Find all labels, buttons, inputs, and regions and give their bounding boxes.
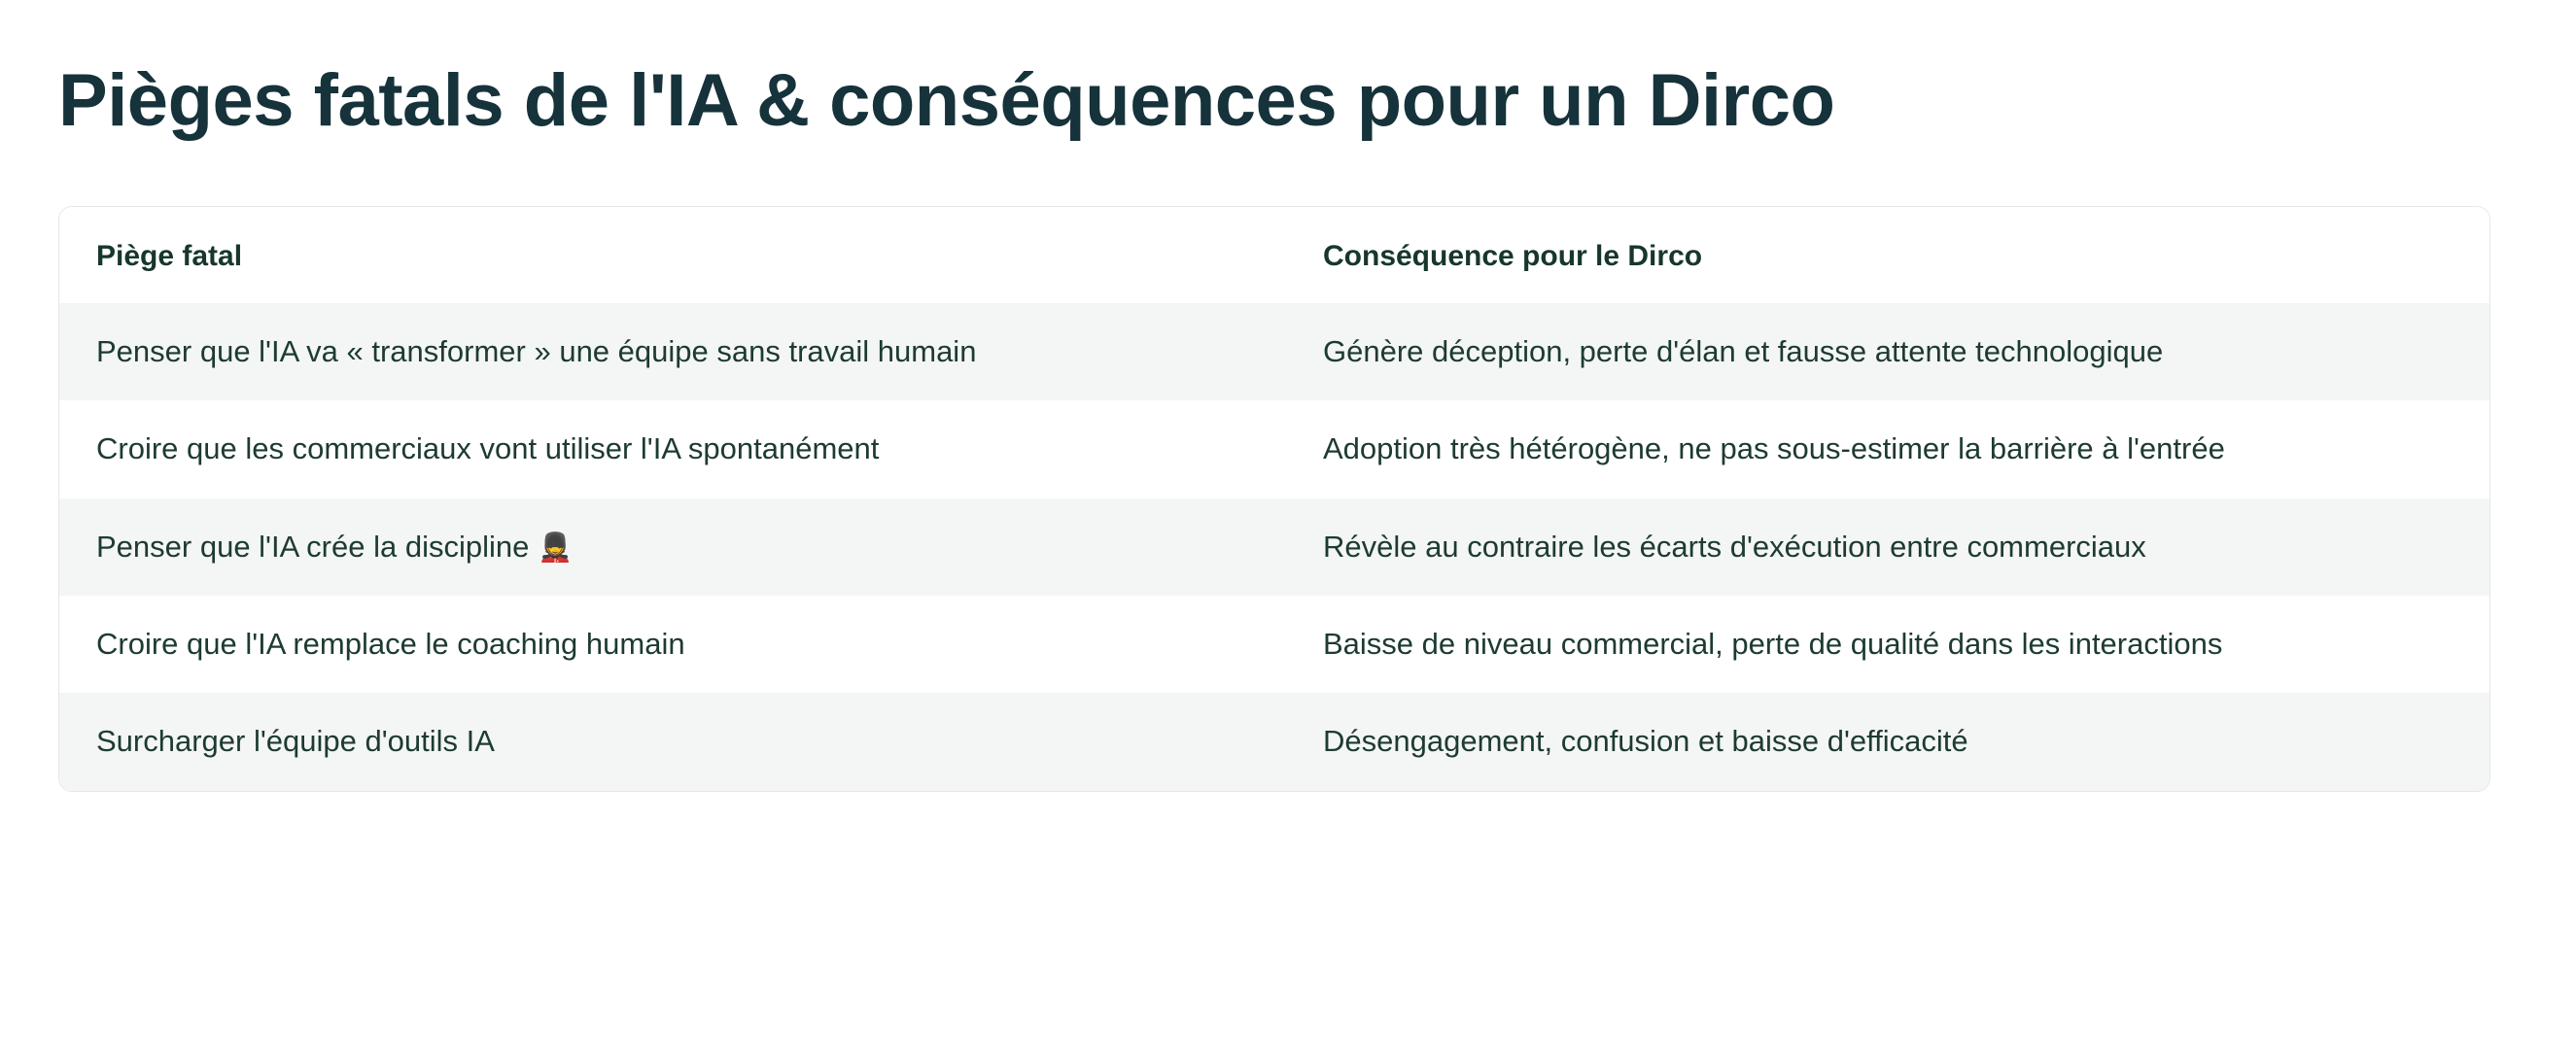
page-root: Pièges fatals de l'IA & conséquences pou… [0, 0, 2576, 1063]
table-row: Surcharger l'équipe d'outils IA Désengag… [59, 693, 2489, 790]
cell-piege-text: Croire que les commerciaux vont utiliser… [96, 431, 879, 465]
table-row: Penser que l'IA crée la discipline 💂 Rév… [59, 498, 2489, 596]
pitfalls-table: Piège fatal Conséquence pour le Dirco Pe… [59, 207, 2489, 791]
table-row: Croire que l'IA remplace le coaching hum… [59, 596, 2489, 693]
column-header-piege: Piège fatal [59, 207, 1286, 304]
page-title: Pièges fatals de l'IA & conséquences pou… [58, 0, 2518, 142]
cell-consequence: Désengagement, confusion et baisse d'eff… [1286, 693, 2489, 790]
cell-consequence: Révèle au contraire les écarts d'exécuti… [1286, 498, 2489, 596]
table-row: Penser que l'IA va « transformer » une é… [59, 303, 2489, 400]
cell-piege-text: Penser que l'IA va « transformer » une é… [96, 334, 976, 368]
cell-piege: Croire que l'IA remplace le coaching hum… [59, 596, 1286, 693]
cell-piege: Penser que l'IA crée la discipline 💂 [59, 498, 1286, 596]
table-row: Croire que les commerciaux vont utiliser… [59, 400, 2489, 497]
cell-consequence: Adoption très hétérogène, ne pas sous-es… [1286, 400, 2489, 497]
pitfalls-table-card: Piège fatal Conséquence pour le Dirco Pe… [58, 206, 2490, 792]
column-header-consequence: Conséquence pour le Dirco [1286, 207, 2489, 304]
cell-consequence: Baisse de niveau commercial, perte de qu… [1286, 596, 2489, 693]
cell-piege-text: Croire que l'IA remplace le coaching hum… [96, 627, 685, 661]
table-header-row: Piège fatal Conséquence pour le Dirco [59, 207, 2489, 304]
table-header: Piège fatal Conséquence pour le Dirco [59, 207, 2489, 304]
cell-piege: Croire que les commerciaux vont utiliser… [59, 400, 1286, 497]
cell-piege: Penser que l'IA va « transformer » une é… [59, 303, 1286, 400]
cell-piege: Surcharger l'équipe d'outils IA [59, 693, 1286, 790]
cell-consequence: Génère déception, perte d'élan et fausse… [1286, 303, 2489, 400]
guard-icon: 💂 [538, 530, 573, 566]
table-body: Penser que l'IA va « transformer » une é… [59, 303, 2489, 790]
cell-piege-text: Surcharger l'équipe d'outils IA [96, 724, 495, 758]
cell-piege-text: Penser que l'IA crée la discipline [96, 530, 529, 564]
